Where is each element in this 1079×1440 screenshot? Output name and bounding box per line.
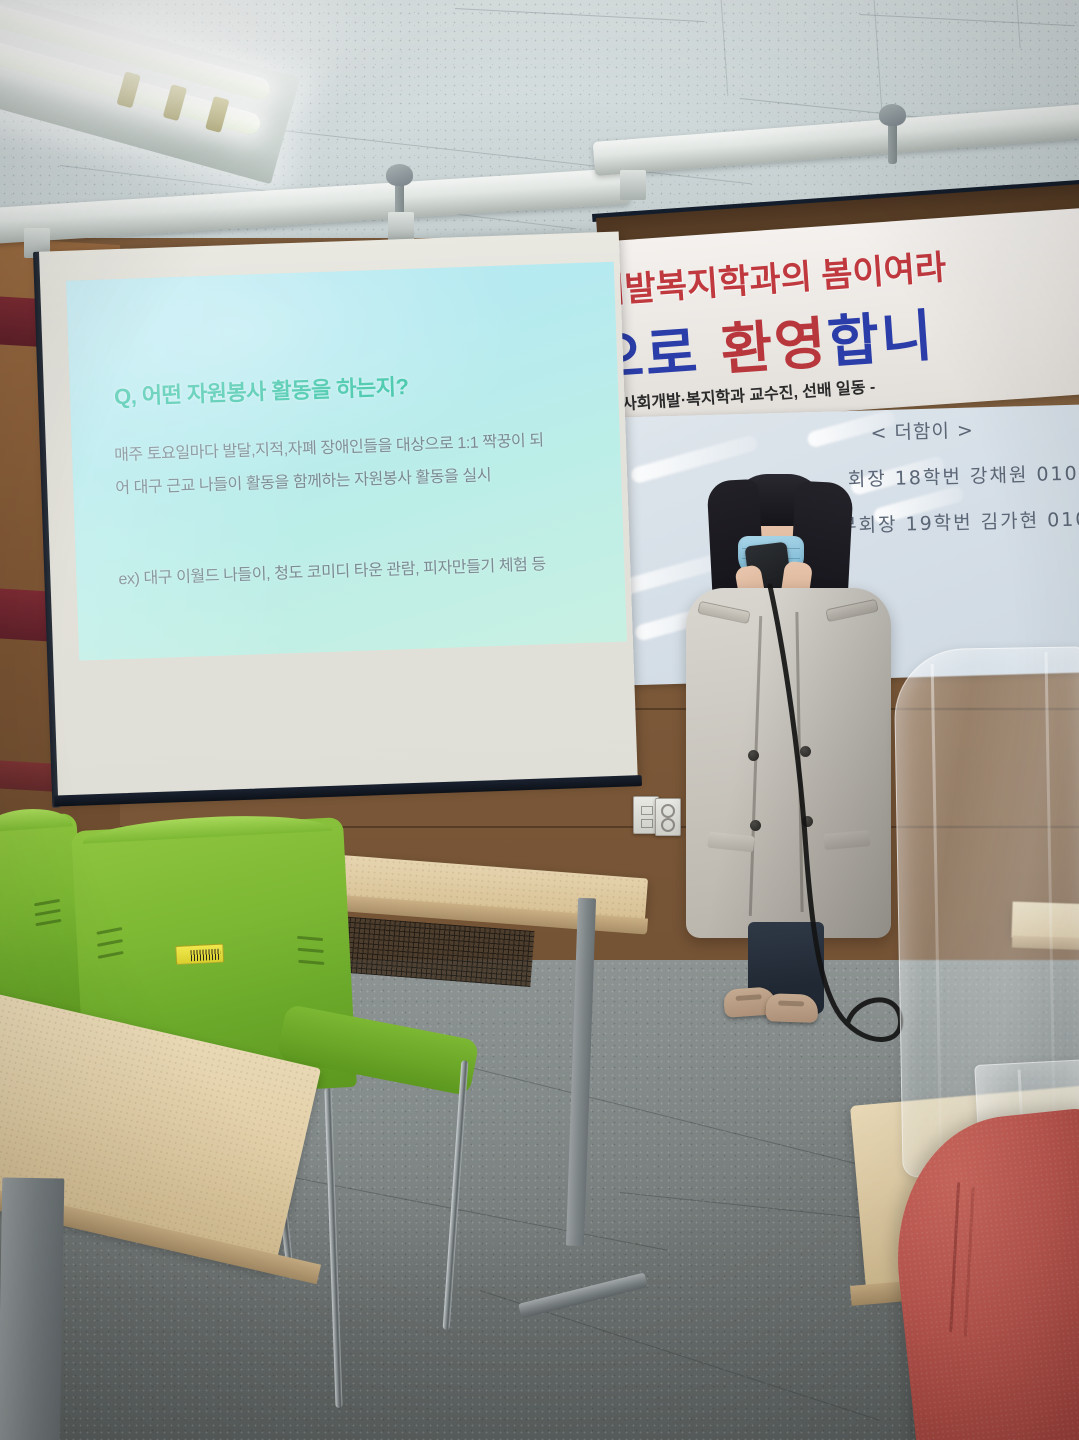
trench-coat xyxy=(686,588,891,938)
coat-shading xyxy=(686,588,891,938)
banner-line-2-part-3: 합니 xyxy=(825,304,936,374)
wall-power-outlet xyxy=(655,798,681,836)
classroom-photo-scene: 개발복지학과의 봄이여라 으로환영합니 역사회개발·복지학과 교수진, 선배 일… xyxy=(0,0,1079,1440)
desk-front-leg xyxy=(0,1177,64,1440)
presenter-person xyxy=(686,470,896,1040)
screen-surface: Q, 어떤 자원봉사 활동을 하는지? 매주 토요일마다 발달,지적,자폐 장애… xyxy=(39,232,638,800)
slide-body: 매주 토요일마다 발달,지적,자폐 장애인들을 대상으로 1:1 짝꿍이 되 어… xyxy=(114,423,586,505)
roller-bracket xyxy=(388,212,414,242)
projection-screen: Q, 어떤 자원봉사 활동을 하는지? 매주 토요일마다 발달,지적,자폐 장애… xyxy=(33,231,644,811)
projected-slide: Q, 어떤 자원봉사 활동을 하는지? 매주 토요일마다 발달,지적,자폐 장애… xyxy=(66,262,627,661)
chair-asset-sticker xyxy=(175,943,224,964)
roller-ceiling-hook xyxy=(888,120,897,164)
slide-example-line: ex) 대구 이월드 나들이, 청도 코미디 타운 관람, 피자만들기 체험 등 xyxy=(118,550,546,589)
welcome-banner: 개발복지학과의 봄이여라 으로환영합니 역사회개발·복지학과 교수진, 선배 일… xyxy=(596,207,1079,427)
slide-title: Q, 어떤 자원봉사 활동을 하는지? xyxy=(113,369,408,411)
roller-bracket xyxy=(620,170,646,200)
whiteboard-heading: < 더함이 > xyxy=(870,416,974,446)
banner-line-2-part-2: 환영 xyxy=(719,311,830,381)
shoe-right xyxy=(766,993,819,1023)
